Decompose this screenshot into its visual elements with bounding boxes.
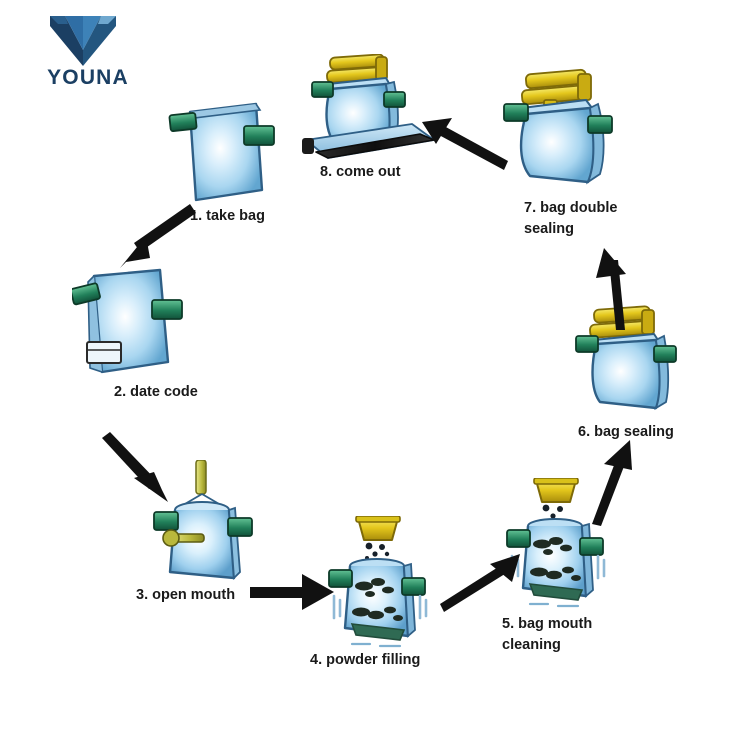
step-8-label: 8. come out — [320, 162, 401, 183]
step-7: 7. bag double sealing — [500, 68, 670, 258]
arrow-4-5 — [438, 552, 526, 619]
youna-v-logo-icon — [50, 14, 116, 66]
arrow-3-4 — [250, 572, 336, 619]
hopper-icon — [534, 478, 578, 502]
date-code-printer-icon — [87, 342, 121, 363]
arrow-5-6 — [584, 438, 646, 533]
brand-name: YOUNA — [28, 66, 148, 90]
arrow-2-3 — [96, 432, 186, 515]
arrow-7-8 — [418, 112, 510, 181]
hopper-icon — [356, 516, 400, 540]
step-5-label: 5. bag mouth cleaning — [502, 614, 592, 656]
lift-probe-icon — [196, 460, 206, 494]
step-2-label: 2. date code — [114, 382, 198, 403]
arrow-1-2 — [112, 196, 202, 286]
brand-logo: YOUNA — [28, 14, 148, 92]
arrow-6-7 — [592, 246, 652, 337]
falling-powder-icon — [365, 543, 389, 560]
step-3-label: 3. open mouth — [136, 585, 235, 606]
step-7-label: 7. bag double sealing — [524, 198, 617, 240]
bag-double-sealing-icon — [500, 68, 640, 198]
diagram-canvas: YOUNA — [0, 0, 730, 730]
step-4-label: 4. powder filling — [310, 650, 420, 671]
